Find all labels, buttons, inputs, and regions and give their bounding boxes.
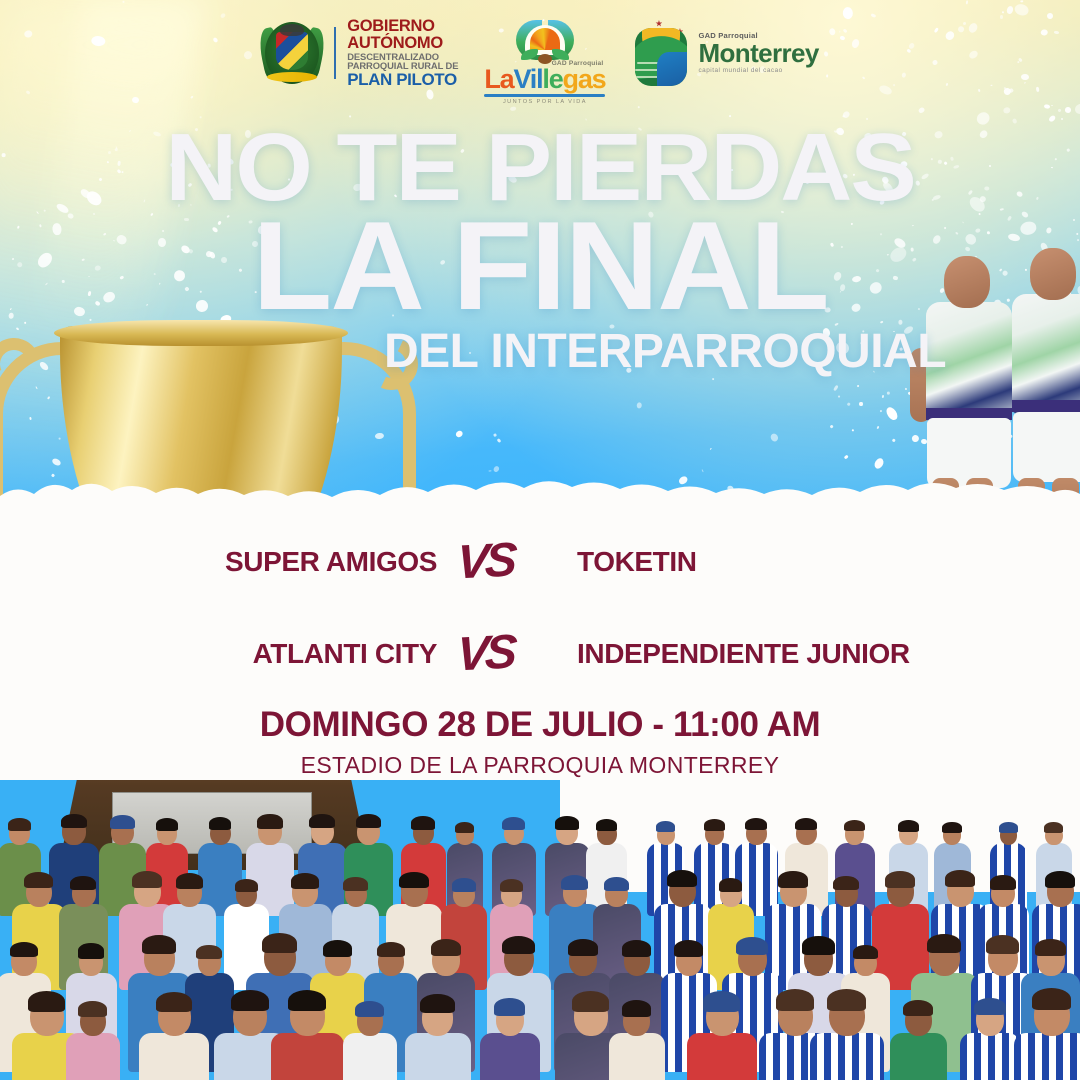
match-1-away-team: TOKETIN (533, 546, 893, 578)
group-photo-person (803, 976, 891, 1080)
headline-line-3: DEL INTERPARROQUIAL (0, 332, 1080, 372)
logo1-line2: AUTÓNOMO (347, 35, 458, 52)
match-2-vs-label: VS (436, 628, 535, 681)
landscape-emblem-icon (631, 18, 691, 88)
event-details: DOMINGO 28 DE JULIO - 11:00 AM ESTADIO D… (0, 705, 1080, 779)
coat-of-arms-icon (261, 20, 323, 86)
logo3-name: Monterrey (698, 40, 818, 66)
group-photo-person (133, 976, 216, 1080)
group-photo-person (1007, 976, 1080, 1080)
group-photo-person (604, 976, 670, 1080)
logo3-tagline: capital mundial del cacao (698, 68, 818, 74)
match-row: SUPER AMIGOS VS TOKETIN (0, 538, 1080, 586)
team-group-photo (0, 780, 1080, 1080)
logo-gad-la-villegas: GAD Parroquial LaVillegas JUNTOS POR LA … (484, 18, 605, 105)
logo2-tagline: JUNTOS POR LA VIDA (484, 99, 605, 105)
logo-divider (334, 27, 336, 79)
event-poster: GOBIERNO AUTÓNOMO DESCENTRALIZADO PARROQ… (0, 0, 1080, 1080)
headline-block: NO TE PIERDAS LA FINAL DEL INTERPARROQUI… (0, 128, 1080, 373)
torn-edge-top-icon (0, 474, 1080, 504)
sunrise-emblem-icon (516, 18, 574, 66)
logo2-eyebrow: GAD Parroquial (552, 60, 604, 67)
sponsor-logo-bar: GOBIERNO AUTÓNOMO DESCENTRALIZADO PARROQ… (0, 18, 1080, 110)
logo2-word-d: gas (563, 64, 606, 94)
logo2-word-a: La (484, 64, 513, 94)
group-photo-person (61, 976, 125, 1080)
group-photo-person (884, 976, 952, 1080)
logo2-underline (484, 94, 605, 97)
match-1-vs-label: VS (436, 536, 535, 589)
logo2-word-c: le (542, 64, 562, 94)
logo1-line1: GOBIERNO (347, 18, 458, 35)
logo2-word-b: Vil (513, 64, 542, 94)
match-2-away-team: INDEPENDIENTE JUNIOR (533, 638, 893, 670)
group-photo-person (399, 976, 477, 1080)
logo1-line5: PLAN PILOTO (347, 71, 458, 88)
headline-line-2: LA FINAL (0, 213, 1080, 319)
match-row: ATLANTI CITY VS INDEPENDIENTE JUNIOR (0, 630, 1080, 678)
group-photo-person (337, 976, 402, 1080)
logo-gad-monterrey: GAD Parroquial Monterrey capital mundial… (631, 18, 818, 88)
event-venue: ESTADIO DE LA PARROQUIA MONTERREY (0, 752, 1080, 779)
logo-gobierno-autonomo-plan-piloto: GOBIERNO AUTÓNOMO DESCENTRALIZADO PARROQ… (261, 18, 458, 88)
match-2-home-team: ATLANTI CITY (187, 638, 437, 670)
group-photo-person (474, 976, 545, 1080)
event-date-time: DOMINGO 28 DE JULIO - 11:00 AM (0, 705, 1080, 745)
matchups-list: SUPER AMIGOS VS TOKETIN ATLANTI CITY VS … (0, 538, 1080, 722)
match-1-home-team: SUPER AMIGOS (187, 546, 437, 578)
